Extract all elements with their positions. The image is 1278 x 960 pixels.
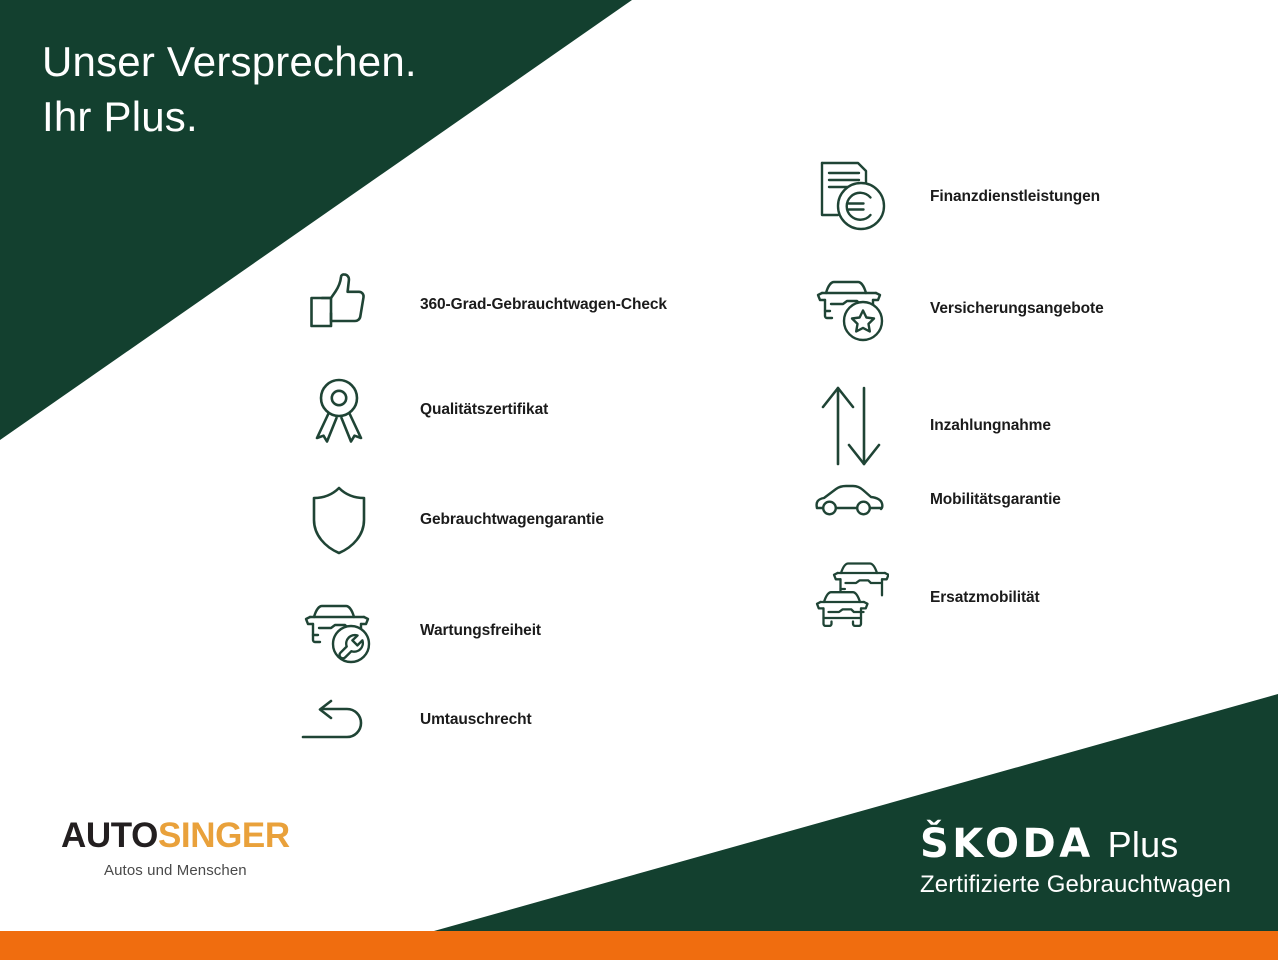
feature-label: Umtauschrecht — [420, 711, 532, 729]
skoda-subtitle: Zertifizierte Gebrauchtwagen — [920, 871, 1231, 899]
feature-item-gebrauchtwagengarantie: Gebrauchtwagengarantie — [300, 481, 604, 559]
feature-item-wartungsfreiheit: Wartungsfreiheit — [300, 592, 541, 670]
skoda-brand-wordmark: ŠKODA — [920, 824, 1094, 864]
feature-label: Versicherungsangebote — [930, 300, 1104, 318]
feature-item-versicherungsangebote: Versicherungsangebote — [812, 270, 1104, 348]
feature-item-mobilitaetsgarantie: Mobilitätsgarantie — [812, 470, 1061, 530]
skoda-plus-title: ŠKODA Plus — [920, 824, 1231, 864]
feature-item-inzahlungnahme: Inzahlungnahme — [812, 380, 1051, 472]
feature-item-360-grad-check: 360-Grad-Gebrauchtwagen-Check — [300, 266, 667, 344]
feature-label: Ersatzmobilität — [930, 589, 1040, 607]
document-euro-icon — [812, 158, 890, 236]
orange-bottom-bar — [0, 931, 1278, 960]
dealer-logo: AUTOSINGER Autos und Menschen — [61, 818, 290, 879]
feature-label: Finanzdienstleistungen — [930, 188, 1100, 206]
feature-label: Inzahlungnahme — [930, 417, 1051, 435]
dealer-tagline: Autos und Menschen — [61, 862, 290, 879]
feature-label: Mobilitätsgarantie — [930, 491, 1061, 509]
return-arrow-icon — [300, 690, 378, 750]
promo-banner: Unser Versprechen. Ihr Plus. 360-Grad-Ge… — [0, 0, 1278, 960]
page-title: Unser Versprechen. Ihr Plus. — [42, 34, 417, 145]
feature-item-ersatzmobilitaet: Ersatzmobilität — [812, 557, 1040, 639]
feature-label: Gebrauchtwagengarantie — [420, 511, 604, 529]
car-side-icon — [812, 470, 890, 530]
feature-item-qualitaetszertifikat: Qualitätszertifikat — [300, 371, 548, 449]
skoda-plus-lockup: ŠKODA Plus Zertifizierte Gebrauchtwagen — [920, 824, 1231, 899]
dealer-wordmark-part1: AUTO — [61, 816, 158, 855]
feature-label: Wartungsfreiheit — [420, 622, 541, 640]
car-wrench-icon — [300, 592, 378, 670]
two-cars-icon — [812, 557, 890, 639]
headline-line-2: Ihr Plus. — [42, 89, 417, 144]
shield-icon — [300, 481, 378, 559]
dealer-wordmark: AUTOSINGER — [61, 818, 290, 853]
thumbs-up-icon — [300, 266, 378, 344]
feature-item-umtauschrecht: Umtauschrecht — [300, 690, 532, 750]
skoda-product-name: Plus — [1108, 827, 1179, 863]
feature-label: 360-Grad-Gebrauchtwagen-Check — [420, 296, 667, 314]
headline-line-1: Unser Versprechen. — [42, 34, 417, 89]
car-star-icon — [812, 270, 890, 348]
feature-item-finanzdienstleistungen: Finanzdienstleistungen — [812, 158, 1100, 236]
dealer-wordmark-part2: SINGER — [158, 816, 290, 855]
feature-label: Qualitätszertifikat — [420, 401, 548, 419]
up-down-arrows-icon — [812, 380, 890, 472]
award-rosette-icon — [300, 371, 378, 449]
